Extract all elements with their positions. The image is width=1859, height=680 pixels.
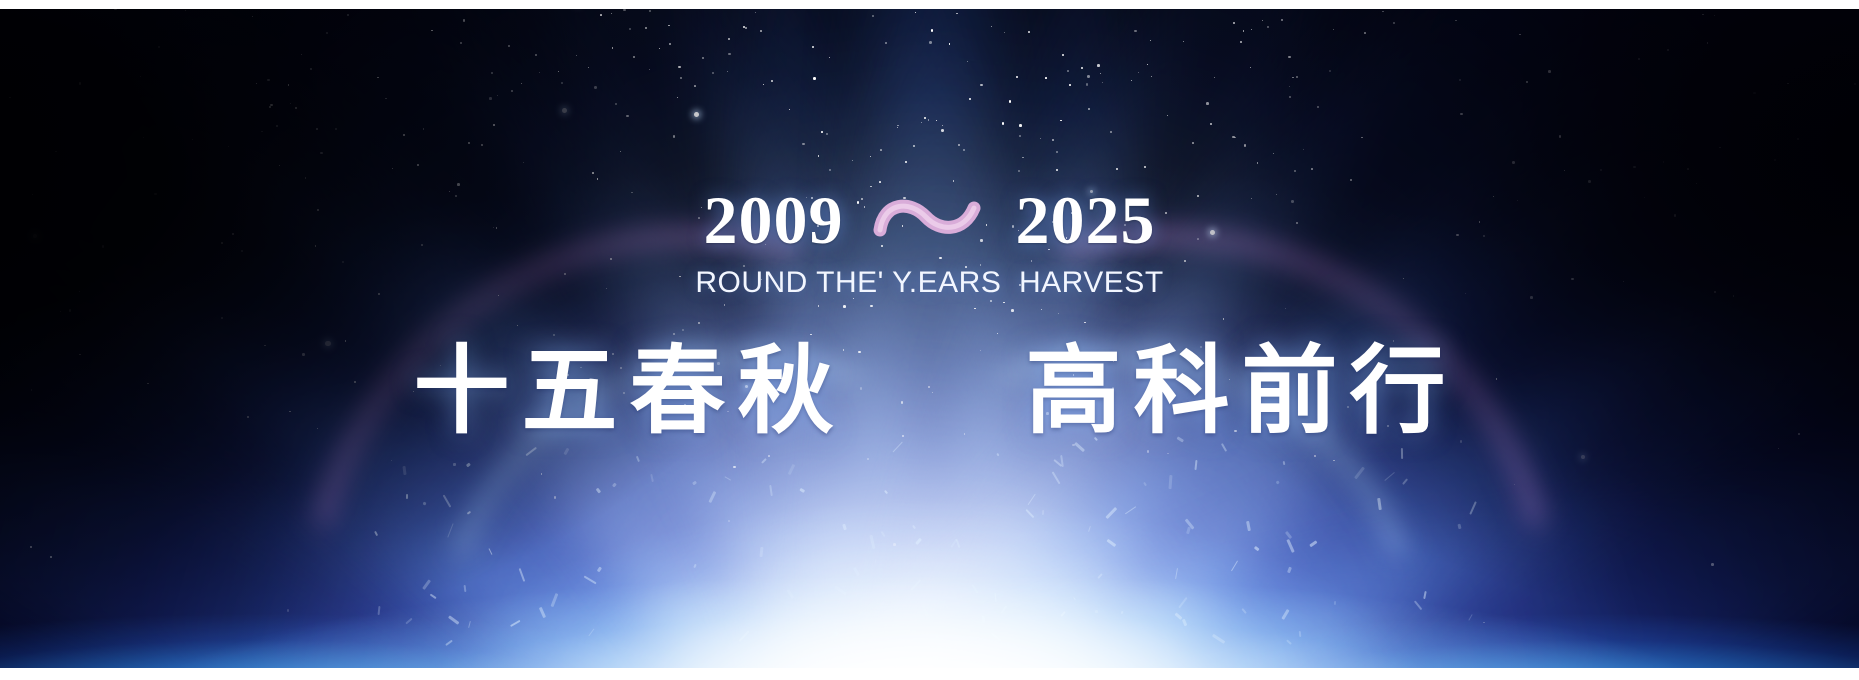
year-range: 2009 2025 [0, 186, 1859, 254]
anniversary-banner: 2009 2025 ROUND THE' Y.EARS HARVEST 十五春秋… [0, 0, 1859, 680]
start-year: 2009 [704, 186, 844, 254]
top-white-strip [0, 0, 1859, 9]
subtitle-text: ROUND THE' Y.EARS HARVEST [0, 266, 1859, 300]
bottom-white-strip [0, 668, 1859, 680]
headline-left-phrase: 十五春秋 [402, 336, 846, 446]
banner-content: 2009 2025 ROUND THE' Y.EARS HARVEST 十五春秋… [0, 0, 1859, 680]
wave-tilde-icon [874, 188, 986, 252]
end-year: 2025 [1016, 186, 1156, 254]
headline-right-phrase: 高科前行 [1014, 336, 1458, 446]
headline-row: 十五春秋 高科前行 [0, 336, 1859, 446]
